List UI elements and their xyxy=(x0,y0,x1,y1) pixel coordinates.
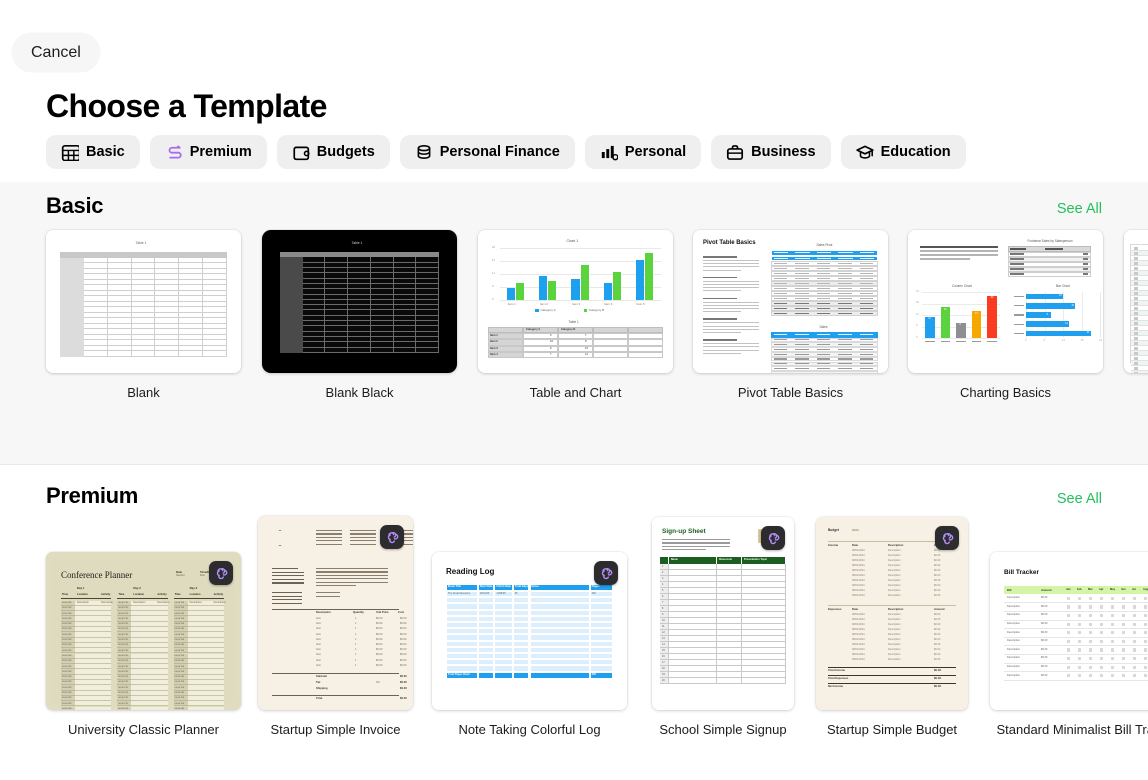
text-line xyxy=(316,578,388,579)
text-line xyxy=(662,546,730,547)
mini-text: 08/01/2024 xyxy=(852,590,865,593)
mini-text: 00:00 PM xyxy=(62,703,71,705)
text-line xyxy=(774,263,787,264)
mini-text: $0.00 xyxy=(934,634,940,637)
text-line xyxy=(838,283,851,284)
checkbox xyxy=(1134,272,1138,274)
legend-swatch-b xyxy=(584,309,587,312)
mini-text: Cost xyxy=(398,612,404,615)
mini-text: 1 xyxy=(662,566,663,568)
template-thumbnail[interactable]: DescriptionQuantityUnit PriceCostItem1$0… xyxy=(258,516,413,710)
mini-text: 00:00 PM xyxy=(118,660,127,662)
mini-text: 00:00 PM xyxy=(175,655,184,657)
mini-text: 00:00 PM xyxy=(62,676,71,678)
checkbox xyxy=(1067,648,1070,651)
tab-label: Personal Finance xyxy=(440,145,560,160)
template-thumbnail[interactable]: Budget2024IncomeDateDescriptionAmount08/… xyxy=(816,517,968,710)
template-caption: Note Taking Colorful Log xyxy=(458,722,600,737)
text-line xyxy=(703,290,741,291)
template-caption: Standard Minimalist Bill Tracker xyxy=(996,722,1148,737)
mini-text: 08/01/2024 xyxy=(852,654,865,657)
mini-text: 08/01/2024 xyxy=(852,585,865,588)
text-line xyxy=(795,334,808,335)
template-thumbnail[interactable]: Bill TrackerBillAmountJanFebMarAprMayJun… xyxy=(990,552,1148,710)
mini-text: Description xyxy=(1007,657,1020,660)
header-rule xyxy=(174,598,224,599)
template-card-note-taking-colorful-log[interactable]: Reading LogBook TitleStart DateFinish Da… xyxy=(432,552,627,737)
mini-text: $0.00 xyxy=(400,649,407,652)
mini-text: 8 xyxy=(960,324,961,326)
mini-text: 1 xyxy=(355,618,356,621)
template-thumbnail[interactable]: Table 1 xyxy=(46,230,241,373)
text-line xyxy=(795,268,808,269)
mini-text: $0.00 xyxy=(400,676,407,679)
template-thumbnail[interactable] xyxy=(1124,230,1148,373)
mini-text: $0.00 xyxy=(376,628,383,631)
mini-text: 00:00 PM xyxy=(175,671,184,673)
text-line xyxy=(316,568,388,569)
grid-cell xyxy=(132,351,156,357)
text-line xyxy=(703,277,737,279)
mini-text: $0.00 xyxy=(934,585,940,588)
checkbox xyxy=(1133,614,1136,617)
mini-text: Description xyxy=(888,654,901,657)
mini-text: 08/01/2024 xyxy=(852,580,865,583)
mini-text: 08/01/2024 xyxy=(852,624,865,627)
checkbox xyxy=(1111,640,1114,643)
checkbox xyxy=(1067,605,1070,608)
checkbox xyxy=(1122,605,1125,608)
text-line xyxy=(795,349,808,350)
mini-text: Description xyxy=(888,575,901,578)
mini-text: Description xyxy=(888,580,901,583)
mini-text: $0.00 xyxy=(934,677,941,680)
mini-text: $0.00 xyxy=(934,570,940,573)
text-line xyxy=(795,288,808,289)
mini-text: Bar Chart xyxy=(1056,285,1070,288)
mini-text: 08/01/2024 xyxy=(852,639,865,642)
checkbox xyxy=(1122,674,1125,677)
text-line xyxy=(703,266,759,267)
text-line xyxy=(860,263,873,264)
text-line xyxy=(350,544,376,545)
text-line xyxy=(1083,253,1088,254)
text-line xyxy=(817,313,830,314)
horizontal-bar xyxy=(1026,321,1069,327)
checkbox xyxy=(1134,252,1138,254)
text-line xyxy=(795,358,808,359)
mini-text: Item 1 xyxy=(490,335,498,338)
checkbox xyxy=(1134,287,1138,289)
mini-text: 00:00 PM xyxy=(175,602,184,604)
grid-cell xyxy=(303,348,326,353)
mini-text: 3 xyxy=(662,578,663,580)
checkbox xyxy=(1078,631,1081,634)
text-line xyxy=(703,326,759,327)
mini-text: Category B xyxy=(589,309,604,312)
table-cell xyxy=(669,678,717,684)
mini-text: $0.00 xyxy=(934,614,940,617)
text-line xyxy=(272,582,304,583)
bar-category-a xyxy=(636,260,644,300)
mini-text: Tax xyxy=(316,682,320,685)
text-line xyxy=(703,350,759,351)
text-line xyxy=(774,278,787,279)
thumbnail-canvas: Pivot Table BasicsSales PivotSales xyxy=(693,230,888,373)
text-line xyxy=(703,318,737,320)
mini-text: Location xyxy=(133,594,144,597)
mini-text: Feb xyxy=(1077,589,1082,592)
mini-text: Description xyxy=(888,590,901,593)
mini-text: Total Expenses xyxy=(828,677,848,680)
template-card-checklist[interactable]: Checklist xyxy=(1124,230,1148,400)
text-line xyxy=(838,358,851,359)
mini-text: $0.00 xyxy=(934,669,941,672)
mini-text: Item 2 xyxy=(490,341,498,344)
mini-text: 35 xyxy=(515,593,518,595)
text-line xyxy=(795,344,808,345)
mini-text: Bill Tracker xyxy=(1004,570,1039,577)
mini-text: 22 xyxy=(991,297,994,299)
entry-cell xyxy=(75,707,111,711)
text-line xyxy=(838,334,851,335)
grid-cell xyxy=(394,348,417,353)
mini-text: Description xyxy=(888,639,901,642)
text-line xyxy=(703,343,759,344)
template-card-table-and-chart[interactable]: Chart 106111722Item 1Item 2Item 3Item 4I… xyxy=(478,230,673,400)
text-line xyxy=(1014,296,1024,297)
mini-text: $0.00 xyxy=(934,555,940,558)
mini-text: 0% xyxy=(376,682,380,685)
template-caption: University Classic Planner xyxy=(68,722,219,737)
mini-text: Table 1 xyxy=(569,321,579,324)
text-line xyxy=(817,344,830,345)
premium-loop-icon xyxy=(766,531,781,546)
column-bar xyxy=(972,311,982,338)
checkbox xyxy=(1133,666,1136,669)
template-card-pivot-table-basics[interactable]: Pivot Table BasicsSales PivotSalesPivot … xyxy=(693,230,888,400)
mini-text: $0.00 xyxy=(934,644,940,647)
text-line xyxy=(703,332,741,333)
text-line xyxy=(817,363,830,364)
mini-text: Day 2 xyxy=(133,587,140,590)
mini-text: 00:00 PM xyxy=(62,692,71,694)
mini-text: 00:00 PM xyxy=(118,650,127,652)
checkbox xyxy=(1111,623,1114,626)
checkbox xyxy=(1134,322,1138,324)
grid-cell xyxy=(108,351,132,357)
header-rule xyxy=(117,598,167,599)
checkbox xyxy=(1100,631,1103,634)
table-rule xyxy=(272,695,399,696)
table-cell xyxy=(717,678,742,684)
text-line xyxy=(860,283,873,284)
checkbox xyxy=(1134,312,1138,314)
mini-text: 08/01/2024 xyxy=(852,570,865,573)
checkbox xyxy=(1144,674,1147,677)
mini-text: Pages xyxy=(592,586,600,589)
mini-text: $0.00 xyxy=(376,639,383,642)
mini-text: 00:00 PM xyxy=(175,697,184,699)
mini-text: 00:00 PM xyxy=(175,639,184,641)
text-line xyxy=(703,311,741,312)
text-line xyxy=(860,313,873,314)
mini-text: $0.00 xyxy=(376,660,383,663)
horizontal-bar xyxy=(1026,294,1063,300)
checkbox xyxy=(1144,614,1147,617)
text-line xyxy=(795,363,808,364)
mini-text: $0.00 xyxy=(934,639,940,642)
see-all-basic[interactable]: See All xyxy=(1057,201,1102,217)
text-line xyxy=(1045,248,1063,250)
mini-text: 00:00 PM xyxy=(62,681,71,683)
tab-label: Business xyxy=(751,145,815,160)
mini-text: $0.00 xyxy=(934,575,940,578)
checkbox xyxy=(1078,623,1081,626)
checkbox xyxy=(1144,605,1147,608)
mini-text: Description xyxy=(888,619,901,622)
text-line xyxy=(817,358,830,359)
mini-text: $0.00 xyxy=(934,649,940,652)
text-line xyxy=(838,313,851,314)
mini-text: 00:00 PM xyxy=(118,639,127,641)
checkbox xyxy=(1133,631,1136,634)
mini-text: 08/01/2024 xyxy=(852,619,865,622)
mini-text: $0.00 xyxy=(1041,614,1048,617)
mini-text: 2 xyxy=(662,572,663,574)
checkbox xyxy=(1122,614,1125,617)
horizontal-bar xyxy=(1026,331,1091,337)
tab-label: Premium xyxy=(190,145,252,160)
text-line xyxy=(817,339,830,340)
checkbox xyxy=(1089,614,1092,617)
mini-text: 16 xyxy=(944,309,947,311)
mini-text: 08/01/2024 xyxy=(852,555,865,558)
mini-text: Presentation Topic xyxy=(744,559,767,562)
text-line xyxy=(316,533,342,534)
template-thumbnail[interactable]: Conference PlannerDateSectionTime/DateDu… xyxy=(46,552,241,710)
tab-budgets[interactable]: Budgets xyxy=(277,135,390,169)
mini-text: 7 xyxy=(550,354,552,357)
mini-text: $0.00 xyxy=(1041,606,1048,609)
text-line xyxy=(860,349,873,350)
mini-text: 00:00 PM xyxy=(118,623,127,625)
text-line xyxy=(920,258,970,260)
tab-label: Basic xyxy=(86,145,125,160)
template-card-university-classic-planner[interactable]: Conference PlannerDateSectionTime/DateDu… xyxy=(46,552,241,737)
mini-text: 00:00 PM xyxy=(62,623,71,625)
section-header-basic: Basic See All xyxy=(46,193,1102,219)
text-line xyxy=(838,344,851,345)
text-line xyxy=(817,278,830,279)
text-line xyxy=(272,603,302,604)
mini-text: 08/01/2024 xyxy=(852,634,865,637)
text-line xyxy=(838,288,851,289)
mini-text: Description xyxy=(888,595,901,598)
mini-text: 12 xyxy=(662,632,665,634)
mini-text: Sales xyxy=(820,326,828,329)
mini-text: 15 xyxy=(585,348,588,351)
checkbox xyxy=(1134,317,1138,319)
text-line xyxy=(860,293,873,294)
tab-premium[interactable]: Premium xyxy=(150,135,267,169)
checkbox xyxy=(1067,597,1070,600)
premium-badge xyxy=(761,526,785,550)
mini-text: Bill xyxy=(1007,589,1011,592)
bar-category-a xyxy=(539,276,547,300)
checkbox xyxy=(1089,666,1092,669)
text-line xyxy=(972,341,982,342)
text-line xyxy=(795,339,808,340)
mini-text: Description xyxy=(888,560,901,563)
section-rule xyxy=(828,605,956,606)
grid-cell xyxy=(203,351,227,357)
text-line xyxy=(774,363,787,364)
checkbox xyxy=(1133,605,1136,608)
text-line xyxy=(860,354,873,355)
mini-text: Category A xyxy=(526,329,540,332)
table-footer-cell xyxy=(494,672,512,679)
mini-text: $0.00 xyxy=(400,654,407,657)
mini-text: $0.00 xyxy=(1041,597,1048,600)
tab-personal[interactable]: Personal xyxy=(585,135,701,169)
text-line xyxy=(316,530,342,531)
text-line xyxy=(795,298,808,299)
text-line xyxy=(860,258,874,259)
checkbox xyxy=(1134,332,1138,334)
mini-text: 12 xyxy=(1059,295,1062,297)
mini-text: Start Date xyxy=(480,586,493,589)
checkbox xyxy=(1134,372,1138,373)
template-card-startup-simple-budget[interactable]: Budget2024IncomeDateDescriptionAmount08/… xyxy=(816,517,968,737)
template-card-blank[interactable]: Table 1Blank xyxy=(46,230,241,400)
mini-text: Notes xyxy=(532,586,539,589)
checkbox xyxy=(1067,657,1070,660)
tab-business[interactable]: Business xyxy=(711,135,830,169)
text-line xyxy=(817,252,831,253)
mini-text: Category A xyxy=(540,309,555,312)
template-card-startup-simple-invoice[interactable]: DescriptionQuantityUnit PriceCostItem1$0… xyxy=(258,516,413,737)
template-card-blank-black[interactable]: Table 1Blank Black xyxy=(262,230,457,400)
coins-stack-icon xyxy=(415,143,433,161)
checkbox xyxy=(1134,347,1138,349)
thumbnail-canvas: Chart 106111722Item 1Item 2Item 3Item 4I… xyxy=(478,230,673,373)
mini-text: Description xyxy=(888,649,901,652)
mini-text: Total Days xyxy=(515,586,528,589)
template-card-school-simple-signup[interactable]: Sign-up SheetNameClassroomPresentation T… xyxy=(652,517,794,737)
premium-loop-icon xyxy=(214,566,229,581)
text-line xyxy=(795,283,808,284)
table-cell xyxy=(593,352,628,358)
mini-text: 00:00 PM xyxy=(62,602,71,604)
template-thumbnail[interactable]: Chart 106111722Item 1Item 2Item 3Item 4I… xyxy=(478,230,673,373)
template-thumbnail[interactable]: Table 1 xyxy=(262,230,457,373)
checkbox xyxy=(1111,674,1114,677)
text-line xyxy=(316,582,388,583)
text-line xyxy=(774,313,787,314)
mini-text: Description xyxy=(888,624,901,627)
checkbox xyxy=(1100,666,1103,669)
mini-text: Description xyxy=(316,612,331,615)
mini-text: 12 xyxy=(916,314,919,317)
checkbox xyxy=(1089,648,1092,651)
mini-text: $0.00 xyxy=(934,565,940,568)
mini-text: $0.00 xyxy=(400,644,407,647)
mini-text: Description xyxy=(1007,649,1020,652)
tab-basic[interactable]: Basic xyxy=(46,135,140,169)
column-bar xyxy=(941,307,951,338)
text-line xyxy=(703,256,737,258)
template-caption: Blank xyxy=(127,385,160,400)
text-line xyxy=(1010,268,1024,269)
cancel-button[interactable]: Cancel xyxy=(12,33,100,72)
mini-text: 1 xyxy=(355,628,356,631)
mini-text: 00:00 PM xyxy=(175,650,184,652)
checkbox xyxy=(1134,327,1138,329)
text-line xyxy=(817,334,830,335)
tab-personal-finance[interactable]: Personal Finance xyxy=(400,135,575,169)
table-footer-cell xyxy=(513,672,530,679)
text-line xyxy=(795,354,808,355)
mini-text: Item 4 xyxy=(604,303,612,306)
text-line xyxy=(860,344,873,345)
text-line xyxy=(1010,253,1024,254)
checkbox xyxy=(1122,666,1125,669)
mini-text: Description xyxy=(888,555,901,558)
text-line xyxy=(703,298,737,300)
hexagon-logo-icon xyxy=(272,530,288,546)
text-line xyxy=(817,368,830,369)
checkbox xyxy=(1100,623,1103,626)
mini-text: 08/01/2024 xyxy=(852,595,865,598)
mini-text: 12 xyxy=(585,354,588,357)
mini-text: Subtotal xyxy=(316,676,327,679)
template-thumbnail[interactable]: Reading LogBook TitleStart DateFinish Da… xyxy=(432,552,627,710)
mini-text: Item 1 xyxy=(508,303,516,306)
checkbox xyxy=(1100,614,1103,617)
checkbox xyxy=(1100,674,1103,677)
mini-text: 00:00 PM xyxy=(118,602,127,604)
text-line xyxy=(1083,273,1088,274)
checkbox xyxy=(1078,597,1081,600)
text-line xyxy=(272,599,302,600)
tab-education[interactable]: Education xyxy=(841,135,966,169)
template-thumbnail[interactable]: Pivot Table BasicsSales PivotSales xyxy=(693,230,888,373)
mini-text: Table 1 xyxy=(352,242,363,245)
template-thumbnail[interactable]: Sign-up SheetNameClassroomPresentation T… xyxy=(652,517,794,710)
mini-text: 1 xyxy=(355,660,356,663)
checkbox xyxy=(1122,623,1125,626)
mini-text: 24 xyxy=(916,291,919,294)
text-line xyxy=(838,354,851,355)
mini-text: Activity xyxy=(214,594,223,597)
mini-text: 00:00 PM xyxy=(62,650,71,652)
mini-text: Location xyxy=(77,594,88,597)
text-line xyxy=(350,540,376,541)
mini-text: 0 xyxy=(492,298,494,301)
mini-text: Description xyxy=(888,608,903,611)
mini-text: 08/01/2024 xyxy=(852,575,865,578)
text-line xyxy=(703,260,759,261)
mini-text: Item xyxy=(316,628,321,631)
checkbox xyxy=(1111,605,1114,608)
template-thumbnail[interactable]: Footwear Sales by SalespersonColumn Char… xyxy=(908,230,1103,373)
mini-text: Description xyxy=(1007,606,1020,609)
template-card-charting-basics[interactable]: Footwear Sales by SalespersonColumn Char… xyxy=(908,230,1103,400)
template-card-standard-minimalist-bill-tracker[interactable]: Bill TrackerBillAmountJanFebMarAprMayJun… xyxy=(990,552,1148,737)
see-all-premium[interactable]: See All xyxy=(1057,491,1102,507)
mini-text: 14 xyxy=(1065,323,1068,325)
